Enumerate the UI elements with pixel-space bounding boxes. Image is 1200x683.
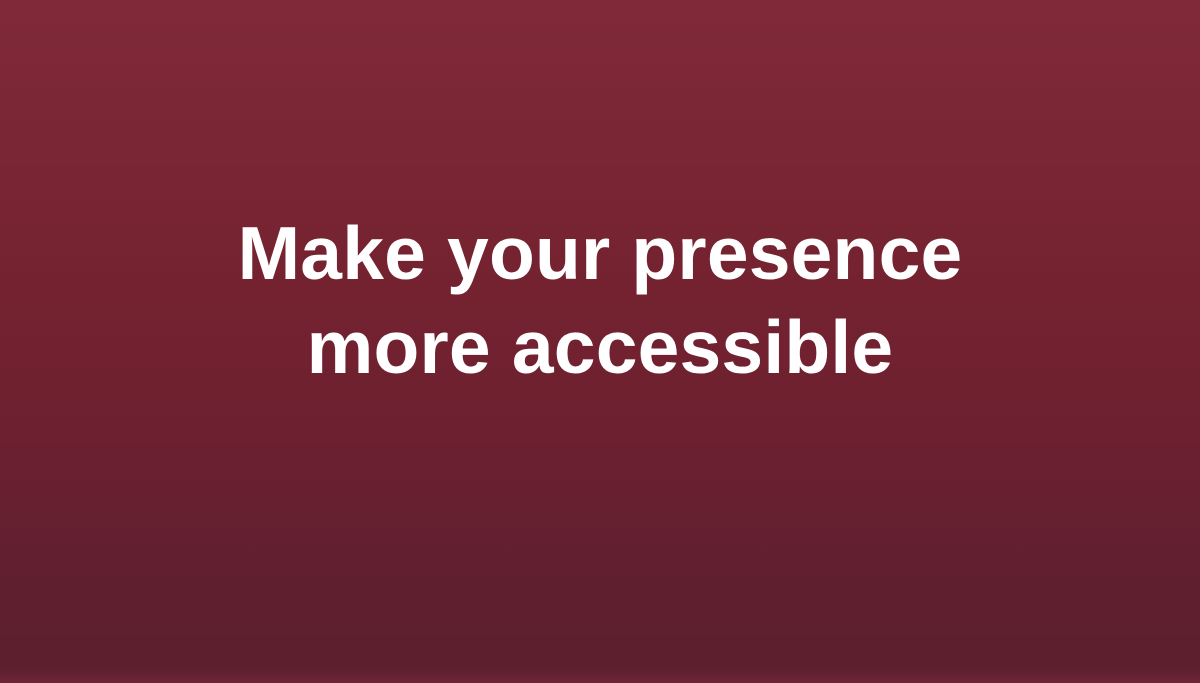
slide-canvas: Make your presence more accessible xyxy=(0,0,1200,683)
headline-line-1: Make your presence xyxy=(238,206,963,300)
headline-block: Make your presence more accessible xyxy=(0,0,1200,600)
headline-line-2: more accessible xyxy=(238,300,963,394)
slide-headline: Make your presence more accessible xyxy=(238,206,963,394)
